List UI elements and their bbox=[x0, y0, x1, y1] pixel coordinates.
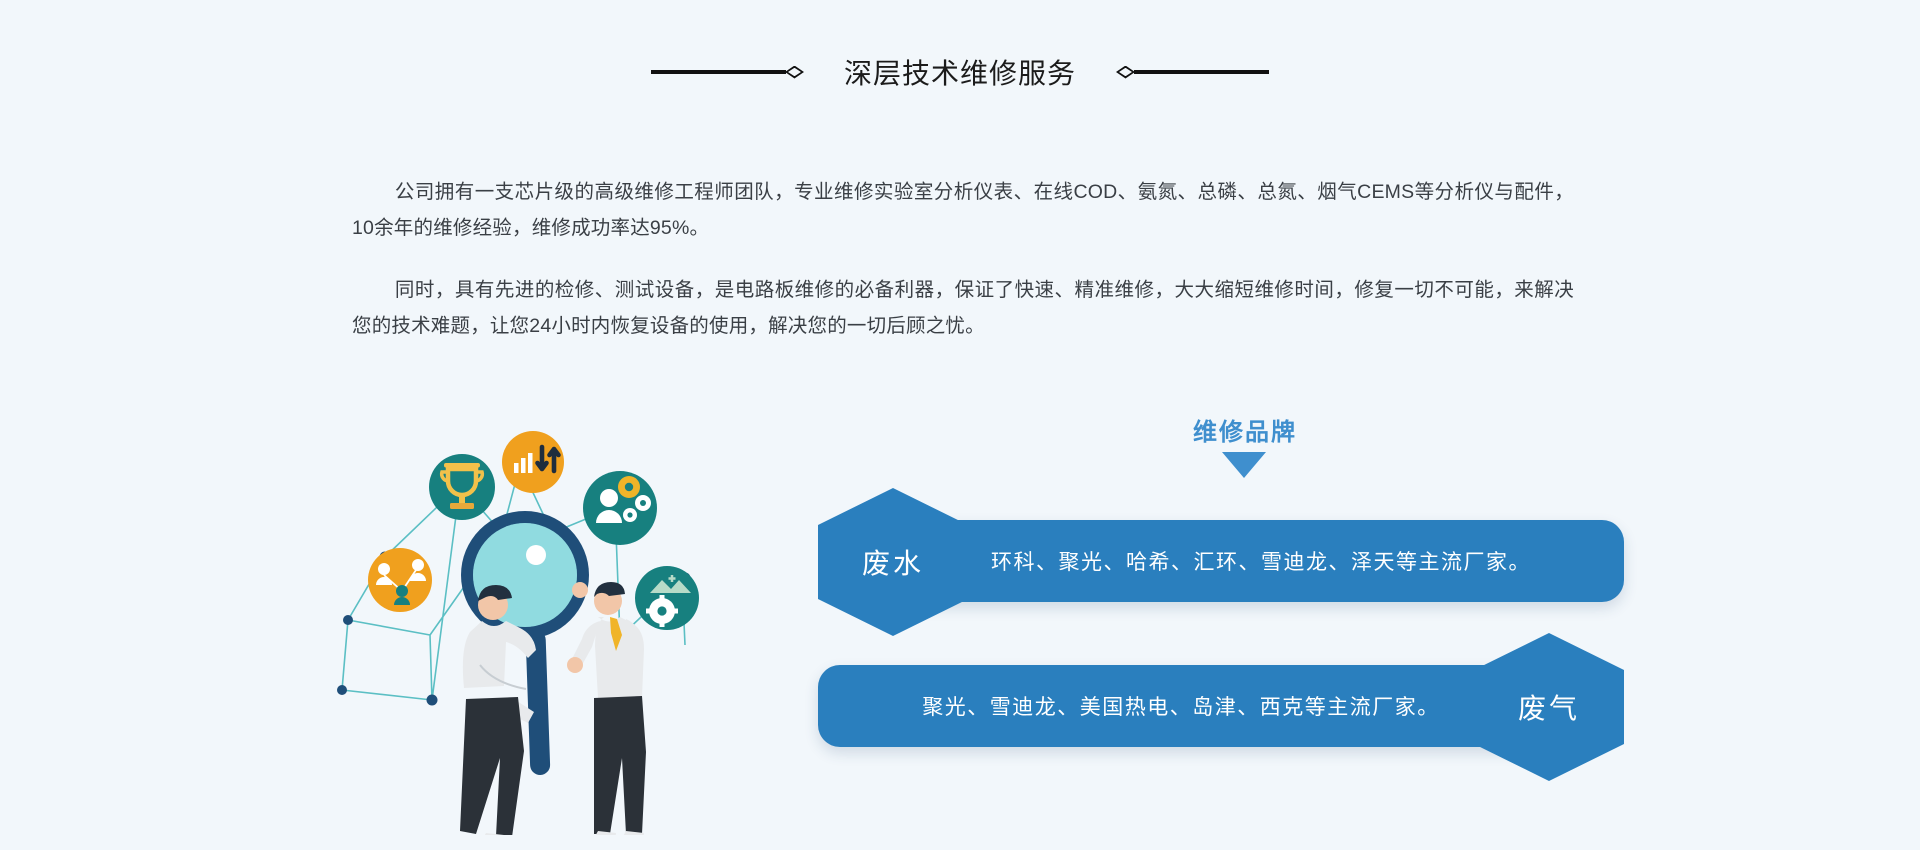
bar-chart-arrows-icon bbox=[502, 431, 564, 493]
brand-row-wastegas-bar: 聚光、雪迪龙、美国热电、岛津、西克等主流厂家。 bbox=[818, 665, 1544, 747]
heading-rule-right bbox=[1116, 66, 1269, 79]
magnifying-glass-team-network-illustration bbox=[330, 415, 730, 835]
hexagon-badge-wastegas: 废气 bbox=[1474, 633, 1624, 781]
heading-line-right-icon bbox=[1134, 70, 1269, 74]
page-root: 深层技术维修服务 公司拥有一支芯片级的高级维修工程师团队，专业维修实验室分析仪表… bbox=[0, 0, 1920, 850]
brand-row-wastewater[interactable]: 环科、聚光、哈希、汇环、雪迪龙、泽天等主流厂家。 废水 bbox=[818, 520, 1624, 602]
gear-mountain-icon bbox=[635, 566, 699, 630]
brand-row-wastewater-category: 废水 bbox=[862, 542, 924, 582]
diamond-left-icon bbox=[785, 66, 804, 79]
diamond-right-icon bbox=[1116, 66, 1135, 79]
intro-copy: 公司拥有一支芯片级的高级维修工程师团队，专业维修实验室分析仪表、在线COD、氨氮… bbox=[352, 174, 1574, 370]
brand-row-wastewater-text: 环科、聚光、哈希、汇环、雪迪龙、泽天等主流厂家。 bbox=[991, 546, 1531, 576]
brand-row-wastegas[interactable]: 聚光、雪迪龙、美国热电、岛津、西克等主流厂家。 废气 bbox=[818, 665, 1624, 747]
brands-label: 维修品牌 bbox=[1140, 412, 1350, 447]
brand-row-wastegas-text: 聚光、雪迪龙、美国热电、岛津、西克等主流厂家。 bbox=[922, 691, 1440, 721]
heading-line-left-icon bbox=[651, 70, 786, 74]
person-right bbox=[567, 582, 646, 835]
brand-row-wastegas-category: 废气 bbox=[1518, 687, 1580, 727]
brand-row-wastewater-bar: 环科、聚光、哈希、汇环、雪迪龙、泽天等主流厂家。 bbox=[898, 520, 1624, 602]
intro-paragraph-1: 公司拥有一支芯片级的高级维修工程师团队，专业维修实验室分析仪表、在线COD、氨氮… bbox=[352, 174, 1574, 246]
triangle-down-icon bbox=[1222, 452, 1266, 478]
heading-rule-left bbox=[651, 66, 804, 79]
page-title: 深层技术维修服务 bbox=[844, 52, 1076, 92]
people-network-icon bbox=[368, 548, 432, 612]
trophy-icon bbox=[429, 454, 495, 520]
section-heading: 深层技术维修服务 bbox=[0, 52, 1920, 92]
hexagon-badge-wastewater: 废水 bbox=[818, 488, 968, 636]
intro-paragraph-2: 同时，具有先进的检修、测试设备，是电路板维修的必备利器，保证了快速、精准维修，大… bbox=[352, 272, 1574, 344]
user-gears-icon bbox=[583, 471, 657, 545]
